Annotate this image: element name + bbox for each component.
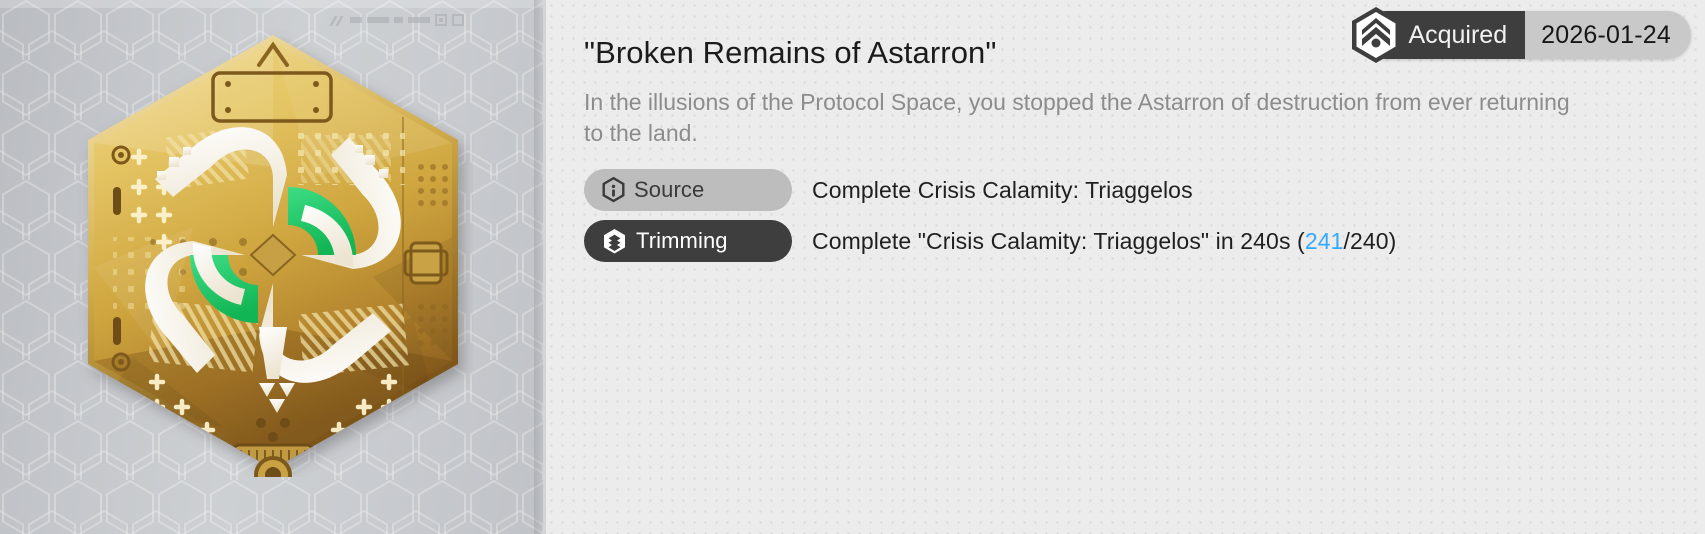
source-pill[interactable]: Source [584, 169, 792, 211]
golden-hexagon-medal [73, 27, 473, 477]
acquired-label: Acquired [1408, 21, 1507, 50]
trimming-current-value: 241 [1305, 228, 1344, 254]
acquired-date: 2026-01-24 [1525, 11, 1691, 59]
detail-rows: Source Complete Crisis Calamity: Triagge… [584, 169, 1671, 262]
source-row: Source Complete Crisis Calamity: Triagge… [584, 169, 1671, 211]
slash-icon [331, 16, 345, 25]
achievement-card: "Broken Remains of Astarron" In the illu… [0, 0, 1705, 534]
acquired-status: Acquired [1362, 11, 1525, 59]
square-mark [435, 14, 447, 26]
status-badge: Acquired 2026-01-24 [1362, 11, 1691, 59]
trimming-pill[interactable]: Trimming [584, 220, 792, 262]
dash-mark [394, 17, 403, 23]
dash-mark [350, 17, 362, 23]
panel-top-highlight [0, 0, 546, 8]
source-text-value: Complete Crisis Calamity: Triaggelos [812, 177, 1193, 203]
hexagon-info-icon [602, 177, 625, 203]
trimming-pill-label: Trimming [636, 228, 728, 254]
trimming-text-suffix: /240) [1344, 228, 1397, 254]
trimming-text: Complete "Crisis Calamity: Triaggelos" i… [812, 228, 1396, 255]
details-panel: "Broken Remains of Astarron" In the illu… [546, 0, 1705, 534]
source-pill-label: Source [634, 177, 704, 203]
trimming-text-prefix: Complete "Crisis Calamity: Triaggelos" i… [812, 228, 1305, 254]
source-text: Complete Crisis Calamity: Triaggelos [812, 177, 1193, 204]
trimming-row: Trimming Complete "Crisis Calamity: Tria… [584, 220, 1671, 262]
hexagon-layers-icon [602, 228, 627, 255]
panel-decoration-marks [331, 14, 464, 26]
square-mark [452, 14, 464, 26]
hexagon-medal-icon [1348, 5, 1404, 65]
medal-panel [0, 0, 546, 534]
dash-mark [408, 17, 430, 23]
badge-description: In the illusions of the Protocol Space, … [584, 87, 1594, 148]
dash-mark [367, 17, 389, 23]
